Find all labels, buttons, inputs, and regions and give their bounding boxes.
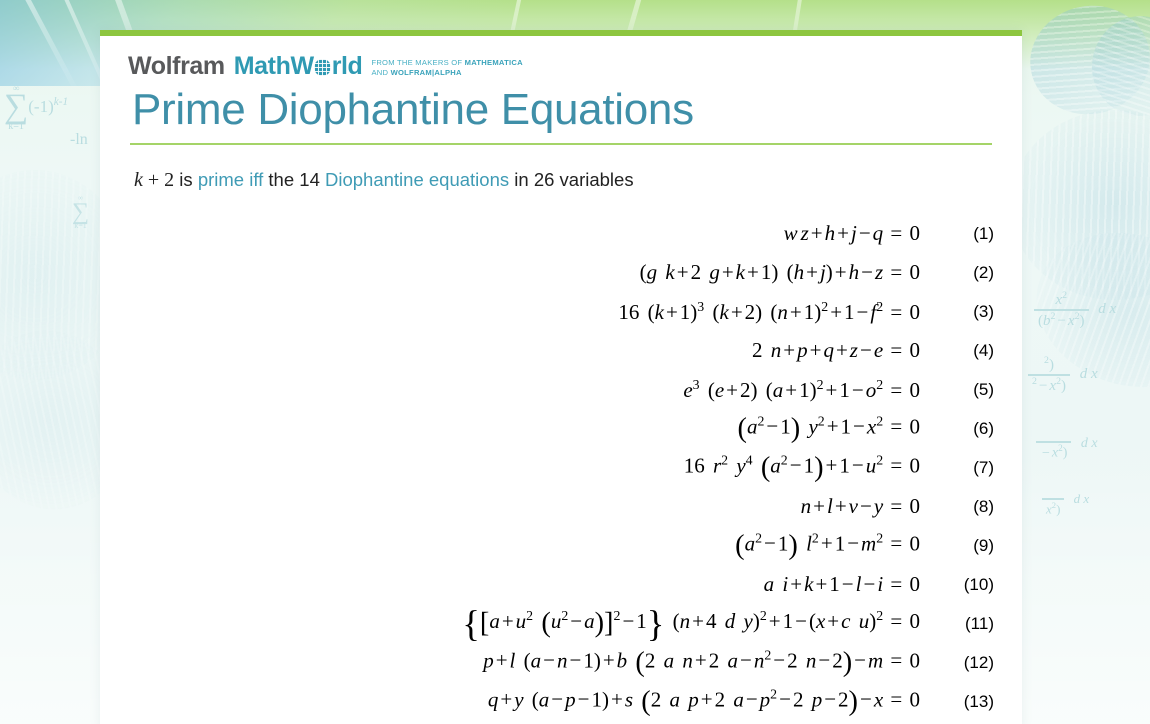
equation-number-3: (3): [936, 302, 994, 322]
equation-number-11: (11): [936, 614, 994, 634]
equation-row: q+y (a−p−1)+s (2 a p+2 a−p2−2 p−2)−x = 0…: [128, 682, 994, 721]
equation-row: (g k+2 g+k+1) (h+j)+h−z = 0 (2): [128, 253, 994, 292]
tagline-line1-bold: MATHEMATICA: [465, 58, 523, 67]
link-diophantine-equations[interactable]: Diophantine equations: [325, 169, 509, 190]
logo-world-rld: rld: [332, 52, 363, 81]
page-title: Prime Diophantine Equations: [132, 85, 994, 134]
equation-body-7: 16 r2 y4 (a2−1)+1−u2 = 0: [128, 452, 936, 484]
intro-text-variables: variables: [554, 169, 633, 190]
background-formula-series-2: ∞ ∑ k=1: [72, 195, 89, 230]
equation-body-3: 16 (k+1)3 (k+2) (n+1)2+1−f2 = 0: [128, 299, 936, 325]
background-formula-series: ∞ ∑ k=1 (-1)k-1: [4, 84, 68, 132]
equation-row: p+l (a−n−1)+b (2 a n+2 a−n2−2 n−2)−m = 0…: [128, 643, 994, 682]
intro-plus: +: [148, 169, 159, 191]
intro-var-k: k: [134, 169, 143, 191]
equation-body-10: a i+k+1−l−i = 0: [128, 572, 936, 597]
background-formula-integral-3: −x2) d x: [1036, 425, 1098, 462]
intro-text-the: the: [263, 169, 299, 190]
equation-number-5: (5): [936, 380, 994, 400]
logo-mathworld-text: MathWrld: [234, 52, 363, 81]
tagline-line-2: AND WOLFRAM|ALPHA: [371, 68, 522, 78]
equation-number-12: (12): [936, 653, 994, 673]
equation-number-7: (7): [936, 458, 994, 478]
intro-num-26: 26: [534, 169, 555, 190]
equation-list: wz+h+j−q = 0 (1) (g k+2 g+k+1) (h+j)+h−z…: [128, 214, 994, 721]
intro-sentence: k + 2 is prime iff the 14 Diophantine eq…: [134, 168, 994, 192]
equation-body-4: 2 n+p+q+z−e = 0: [128, 338, 936, 363]
equation-body-11: {[a+u2 (u2−a)]2−1} (n+4 d y)2+1−(x+c u)2…: [128, 602, 936, 645]
equation-body-8: n+l+v−y = 0: [128, 494, 936, 519]
logo-world-w: W: [290, 52, 313, 81]
equation-number-4: (4): [936, 341, 994, 361]
equation-number-2: (2): [936, 263, 994, 283]
equation-number-9: (9): [936, 536, 994, 556]
logo-math-text: Math: [234, 52, 291, 81]
equation-body-12: p+l (a−n−1)+b (2 a n+2 a−n2−2 n−2)−m = 0: [128, 647, 936, 679]
background-formula-integral-4: x2) d x: [1042, 482, 1089, 517]
equation-number-1: (1): [936, 224, 994, 244]
ln-term: -ln: [70, 131, 88, 148]
equation-row: a i+k+1−l−i = 0 (10): [128, 565, 994, 604]
equation-row: (a2−1) l2+1−m2 = 0 (9): [128, 526, 994, 565]
equation-number-13: (13): [936, 692, 994, 712]
equation-body-9: (a2−1) l2+1−m2 = 0: [128, 530, 936, 562]
background-formula-integral-2: 2) 2−x2) d x: [1028, 355, 1098, 395]
equation-row: n+l+v−y = 0 (8): [128, 487, 994, 526]
tagline-line2-plain: AND: [371, 68, 390, 77]
equation-row: (a2−1) y2+1−x2 = 0 (6): [128, 409, 994, 448]
globe-icon: [314, 59, 331, 76]
summation-icon: ∑: [4, 93, 28, 122]
equation-body-2: (g k+2 g+k+1) (h+j)+h−z = 0: [128, 260, 936, 285]
equation-row: 16 r2 y4 (a2−1)+1−u2 = 0 (7): [128, 448, 994, 487]
series-exponent: k-1: [54, 96, 68, 108]
series-term: (-1): [28, 97, 53, 116]
tagline-line-1: FROM THE MAKERS OF MATHEMATICA: [371, 58, 522, 68]
intro-num-14: 14: [299, 169, 320, 190]
background-formula-integral-1: x2 (b2−x2) d x: [1034, 290, 1116, 330]
dx-term: d x: [1098, 301, 1116, 317]
equation-number-6: (6): [936, 419, 994, 439]
article-card: Wolfram MathWrld FROM THE MAKERS OF MATH…: [100, 30, 1022, 724]
title-divider: [130, 143, 992, 145]
equation-body-13: q+y (a−p−1)+s (2 a p+2 a−p2−2 p−2)−x = 0: [128, 686, 936, 718]
equation-body-5: e3 (e+2) (a+1)2+1−o2 = 0: [128, 377, 936, 403]
equation-number-10: (10): [936, 575, 994, 595]
equation-row: 2 n+p+q+z−e = 0 (4): [128, 331, 994, 370]
equation-body-6: (a2−1) y2+1−x2 = 0: [128, 413, 936, 445]
intro-text-in: in: [509, 169, 534, 190]
site-logo[interactable]: Wolfram MathWrld FROM THE MAKERS OF MATH…: [128, 36, 994, 76]
equation-row: 16 (k+1)3 (k+2) (n+1)2+1−f2 = 0 (3): [128, 292, 994, 331]
tagline-line2-bold: WOLFRAM|ALPHA: [391, 68, 462, 77]
equation-row: {[a+u2 (u2−a)]2−1} (n+4 d y)2+1−(x+c u)2…: [128, 604, 994, 643]
tagline-line1-plain: FROM THE MAKERS OF: [371, 58, 464, 67]
logo-wolfram-text: Wolfram: [128, 52, 225, 81]
equation-number-8: (8): [936, 497, 994, 517]
logo-tagline: FROM THE MAKERS OF MATHEMATICA AND WOLFR…: [371, 55, 522, 77]
equation-body-1: wz+h+j−q = 0: [128, 221, 936, 246]
intro-text-is: is: [174, 169, 198, 190]
intro-num-2: 2: [164, 169, 174, 191]
link-prime-iff[interactable]: prime iff: [198, 169, 263, 190]
equation-row: e3 (e+2) (a+1)2+1−o2 = 0 (5): [128, 370, 994, 409]
background-formula-ln: -ln: [70, 131, 88, 149]
equation-row: wz+h+j−q = 0 (1): [128, 214, 994, 253]
